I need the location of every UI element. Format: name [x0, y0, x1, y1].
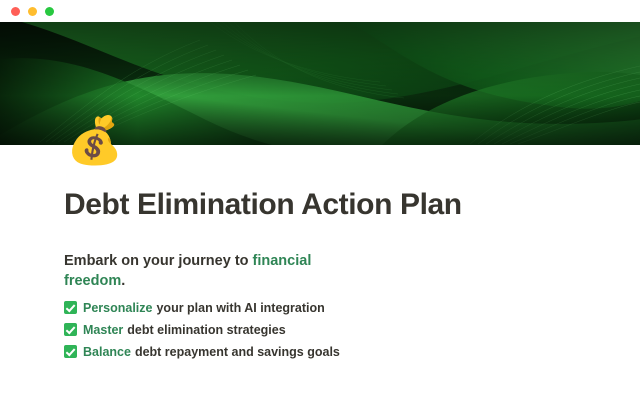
list-item[interactable]: Master debt elimination strategies [64, 322, 364, 338]
list-item[interactable]: Balance debt repayment and savings goals [64, 344, 364, 360]
window-titlebar [0, 0, 640, 22]
list-item[interactable]: Personalize your plan with AI integratio… [64, 300, 364, 316]
subtitle-lead: Embark on your journey to [64, 253, 253, 269]
money-bag-emoji[interactable]: 💰 [66, 112, 122, 168]
check-mark-icon [64, 323, 77, 336]
list-item-strong: Master [83, 322, 123, 338]
list-item-text: your plan with AI integration [156, 300, 324, 316]
list-item-text: debt elimination strategies [127, 322, 285, 338]
list-item-strong: Balance [83, 344, 131, 360]
check-mark-icon [64, 345, 77, 358]
maximize-window-icon[interactable] [45, 7, 54, 16]
close-window-icon[interactable] [11, 7, 20, 16]
minimize-window-icon[interactable] [28, 7, 37, 16]
check-mark-icon [64, 301, 77, 314]
subtitle-block[interactable]: Embark on your journey to financial free… [64, 251, 326, 291]
content-blocks: Embark on your journey to financial free… [64, 251, 364, 366]
page-content: Debt Elimination Action Plan Embark on y… [0, 145, 640, 400]
subtitle-trail: . [121, 273, 125, 289]
app-window: 💰 Debt Elimination Action Plan Embark on… [0, 0, 640, 400]
list-item-strong: Personalize [83, 300, 152, 316]
list-item-text: debt repayment and savings goals [135, 344, 340, 360]
page-title[interactable]: Debt Elimination Action Plan [64, 188, 462, 222]
